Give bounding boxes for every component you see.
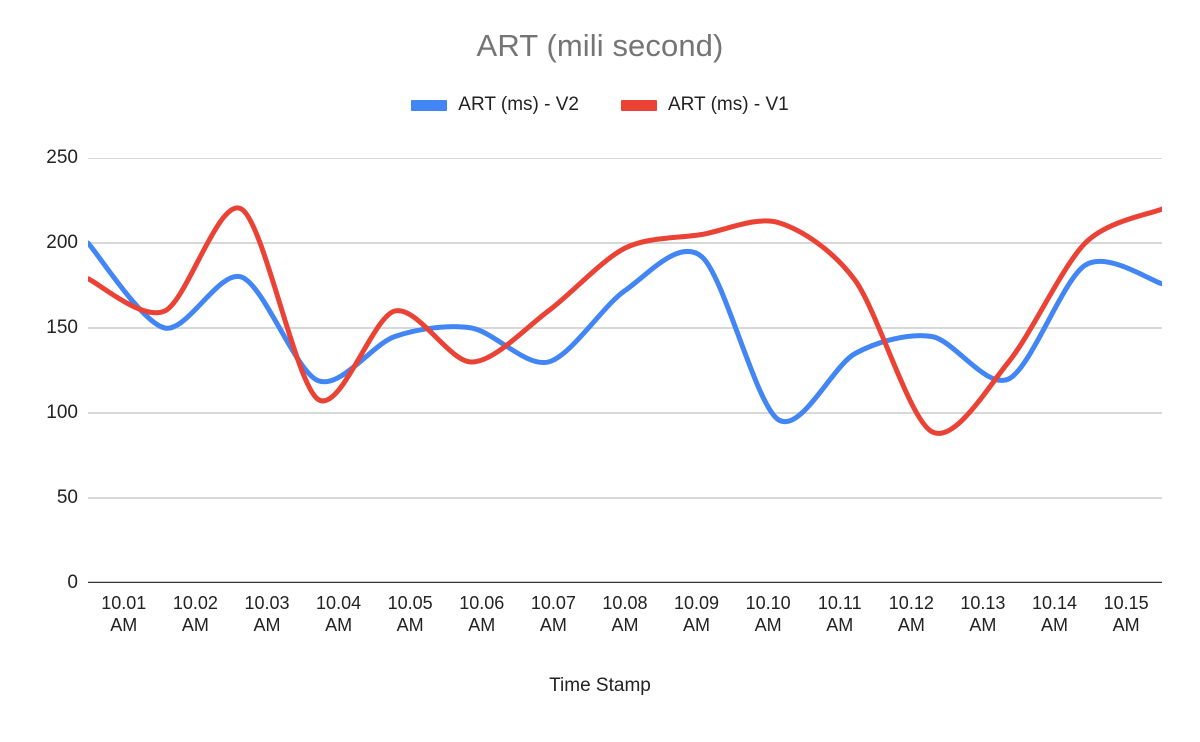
x-tick-meridiem: AM [589, 614, 661, 636]
y-axis-tick-label: 250 [8, 147, 78, 169]
chart-legend: ART (ms) - V2ART (ms) - V1 [0, 94, 1200, 116]
x-tick-time: 10.09 [674, 593, 719, 613]
x-tick-time: 10.03 [244, 593, 289, 613]
x-axis-tick-label: 10.05AM [374, 592, 446, 654]
plot-area [88, 158, 1162, 583]
x-axis-tick-label: 10.08AM [589, 592, 661, 654]
x-tick-time: 10.08 [602, 593, 647, 613]
x-tick-time: 10.04 [316, 593, 361, 613]
x-tick-meridiem: AM [876, 614, 948, 636]
series-line[interactable] [88, 208, 1162, 434]
legend-color-swatch [621, 100, 657, 111]
x-tick-meridiem: AM [1090, 614, 1162, 636]
x-tick-meridiem: AM [446, 614, 518, 636]
x-axis-tick-label: 10.04AM [303, 592, 375, 654]
legend-label: ART (ms) - V1 [668, 94, 789, 116]
y-axis-tick-label: 0 [8, 572, 78, 594]
legend-item[interactable]: ART (ms) - V2 [411, 94, 579, 116]
x-tick-meridiem: AM [374, 614, 446, 636]
x-axis-tick-label: 10.15AM [1090, 592, 1162, 654]
x-tick-time: 10.02 [173, 593, 218, 613]
x-tick-meridiem: AM [1019, 614, 1091, 636]
x-axis-tick-label: 10.02AM [160, 592, 232, 654]
x-tick-time: 10.05 [388, 593, 433, 613]
x-tick-meridiem: AM [160, 614, 232, 636]
legend-label: ART (ms) - V2 [458, 94, 579, 116]
series-lines [88, 208, 1162, 434]
x-tick-meridiem: AM [231, 614, 303, 636]
plot-svg [88, 158, 1162, 583]
x-tick-meridiem: AM [661, 614, 733, 636]
x-tick-time: 10.11 [818, 593, 862, 613]
x-axis-tick-label: 10.01AM [88, 592, 160, 654]
x-axis: 10.01AM10.02AM10.03AM10.04AM10.05AM10.06… [88, 592, 1162, 654]
x-tick-meridiem: AM [947, 614, 1019, 636]
x-tick-time: 10.14 [1032, 593, 1077, 613]
x-tick-time: 10.13 [960, 593, 1005, 613]
x-tick-time: 10.06 [459, 593, 504, 613]
y-axis-tick-label: 100 [8, 402, 78, 424]
x-tick-meridiem: AM [303, 614, 375, 636]
x-tick-time: 10.01 [101, 593, 146, 613]
x-tick-meridiem: AM [804, 614, 876, 636]
x-tick-time: 10.15 [1104, 593, 1149, 613]
x-axis-tick-label: 10.13AM [947, 592, 1019, 654]
x-axis-tick-label: 10.14AM [1019, 592, 1091, 654]
x-axis-tick-label: 10.12AM [876, 592, 948, 654]
chart-container: ART (mili second) ART (ms) - V2ART (ms) … [0, 0, 1200, 742]
x-tick-meridiem: AM [88, 614, 160, 636]
x-tick-time: 10.07 [531, 593, 576, 613]
x-tick-time: 10.12 [889, 593, 934, 613]
x-axis-title: Time Stamp [0, 675, 1200, 697]
legend-item[interactable]: ART (ms) - V1 [621, 94, 789, 116]
series-line[interactable] [88, 243, 1162, 422]
x-axis-tick-label: 10.03AM [231, 592, 303, 654]
x-axis-tick-label: 10.10AM [732, 592, 804, 654]
x-tick-meridiem: AM [732, 614, 804, 636]
x-axis-tick-label: 10.09AM [661, 592, 733, 654]
legend-color-swatch [411, 100, 447, 111]
x-tick-time: 10.10 [746, 593, 791, 613]
y-axis-tick-label: 50 [8, 487, 78, 509]
x-axis-tick-label: 10.06AM [446, 592, 518, 654]
x-axis-tick-label: 10.07AM [518, 592, 590, 654]
y-axis: 050100150200250 [0, 158, 78, 583]
y-axis-tick-label: 150 [8, 317, 78, 339]
chart-title: ART (mili second) [0, 28, 1200, 64]
x-axis-tick-label: 10.11AM [804, 592, 876, 654]
y-axis-tick-label: 200 [8, 232, 78, 254]
x-tick-meridiem: AM [518, 614, 590, 636]
